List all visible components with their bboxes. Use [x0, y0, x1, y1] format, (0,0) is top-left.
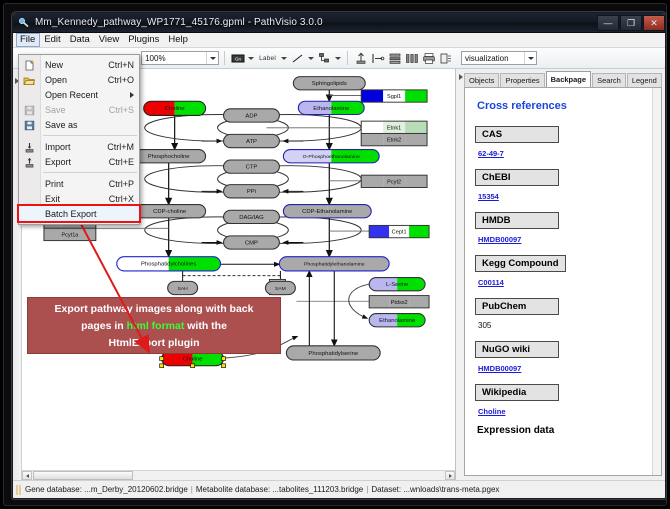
align-top-button[interactable] — [353, 51, 368, 66]
pathway-node-label: SAH — [178, 286, 189, 292]
file-menu-dropdown: New Ctrl+N Open Ctrl+O Open Recent — [18, 54, 140, 225]
title-bar: Mm_Kennedy_pathway_WP1771_45176.gpml - P… — [13, 13, 665, 33]
label-dropdown-icon[interactable] — [280, 51, 288, 65]
xref-hmdb: HMDB HMDB00097 — [475, 210, 661, 247]
annotation-callout: Export pathway images along with back pa… — [27, 297, 281, 354]
pathway-node-ppi[interactable]: PPi — [224, 185, 280, 198]
xref-pubchem: PubChem 305 — [475, 296, 661, 333]
menu-item-open-recent-label: Open Recent — [45, 90, 130, 100]
pathway-gene-box-label: Cept1 — [392, 230, 407, 236]
xref-head-wikipedia: Wikipedia — [475, 384, 559, 401]
menu-item-exit-label: Exit — [45, 194, 109, 204]
status-separator-1: | — [188, 485, 196, 494]
menu-item-new[interactable]: New Ctrl+N — [19, 57, 139, 72]
pathway-gene-box-sgpl1[interactable]: Sgpl1 — [361, 90, 427, 102]
xref-link-wikipedia[interactable]: Choline — [478, 407, 506, 416]
pathway-node-label: Ethanolamine — [313, 106, 349, 112]
interaction-tool-icon[interactable] — [317, 51, 332, 66]
maximize-button[interactable]: ❐ — [620, 15, 642, 31]
pathway-node-phosphocholine[interactable]: Phosphocholine — [132, 150, 206, 163]
interaction-dropdown-icon[interactable] — [334, 51, 342, 65]
menu-separator-1 — [43, 135, 137, 136]
pathway-node-label: DAG/IAG — [239, 215, 264, 221]
tab-legend[interactable]: Legend — [627, 73, 662, 87]
xref-head-pubchem: PubChem — [475, 298, 559, 315]
xref-nugo: NuGO wiki HMDB00097 — [475, 339, 661, 376]
pathway-node-label: Phosphatidylcholines — [141, 262, 196, 268]
menu-item-export-label: Export — [45, 157, 109, 167]
properties-button[interactable] — [438, 51, 453, 66]
menu-item-new-label: New — [45, 60, 108, 70]
menu-item-export[interactable]: Export Ctrl+E — [19, 154, 139, 169]
menu-item-save-accel: Ctrl+S — [109, 105, 139, 115]
expression-data-title: Expression data — [477, 425, 661, 436]
pathway-gene-box-etnk1[interactable]: Etnk1 — [361, 121, 427, 133]
pathway-node-label: ATP — [246, 139, 257, 145]
sidebar-tabs: Objects Properties Backpage Search Legen… — [458, 72, 662, 87]
menu-item-print-label: Print — [45, 179, 109, 189]
chevron-down-icon[interactable] — [206, 52, 218, 64]
tab-search[interactable]: Search — [592, 73, 626, 87]
pathway-node-label: CTP — [246, 165, 258, 171]
pathway-node-cdpcholine[interactable]: CDP-choline — [134, 205, 206, 218]
menu-item-import-label: Import — [45, 142, 107, 152]
pathway-node-ptdcholines[interactable]: Phosphatidylcholines — [117, 257, 221, 271]
menu-item-open-label: Open — [45, 75, 108, 85]
pathway-node-ophosphoetham[interactable]: O-Phosphoethanolamine — [283, 150, 379, 163]
menu-plugins[interactable]: Plugins — [124, 33, 164, 47]
sidebar-vertical-scrollbar[interactable] — [652, 88, 661, 475]
xref-wikipedia: Wikipedia Choline — [475, 382, 661, 419]
pathway-node-sam[interactable]: SAM — [265, 281, 295, 294]
pathway-gene-box-cept1[interactable]: Cept1 — [369, 225, 429, 237]
menu-item-save-label: Save — [45, 105, 109, 115]
pathway-node-label: Choline — [183, 357, 203, 363]
pathway-node-label: SAM — [275, 286, 286, 292]
status-gene-database: Gene database: ...m_Derby_20120602.bridg… — [25, 485, 188, 494]
line-tool-icon[interactable] — [290, 51, 305, 66]
menu-view[interactable]: View — [95, 33, 124, 47]
status-metabolite-database: Metabolite database: ...tabolites_111203… — [196, 485, 363, 494]
pathway-node-label: CMP — [245, 240, 258, 246]
tab-backpage[interactable]: Backpage — [546, 71, 591, 87]
menu-item-import-accel: Ctrl+M — [107, 142, 139, 152]
pathway-node-label: Phosphatidylserine — [308, 351, 358, 357]
cross-references-title: Cross references — [477, 100, 661, 112]
pathway-node-cdpethanolamine[interactable]: CDP-Ethanolamine — [283, 205, 371, 218]
pathway-gene-box-label: Pcyt1a — [61, 233, 79, 239]
xref-head-chebi: ChEBI — [475, 169, 559, 186]
toolbar-separator — [224, 51, 225, 65]
tab-objects[interactable]: Objects — [464, 73, 499, 87]
xref-link-cas[interactable]: 62-49-7 — [478, 149, 504, 158]
chevron-right-icon — [130, 92, 134, 98]
zoom-value: 100% — [145, 54, 206, 63]
save-as-icon — [23, 119, 35, 131]
zoom-combo[interactable]: 100% — [141, 51, 219, 65]
xref-head-kegg: Kegg Compound — [475, 255, 566, 272]
xref-value-pubchem: 305 — [478, 321, 491, 330]
screen-frame: Mm_Kennedy_pathway_WP1771_45176.gpml - P… — [3, 3, 667, 506]
line-dropdown-icon[interactable] — [307, 51, 315, 65]
pathway-node-cmp[interactable]: CMP — [224, 236, 280, 249]
new-document-icon — [23, 59, 35, 71]
menu-item-open-accel: Ctrl+O — [108, 75, 139, 85]
visualization-value: visualization — [465, 54, 524, 63]
pathway-node-adp[interactable]: ADP — [224, 109, 280, 122]
callout-highlight: html format — [127, 320, 185, 332]
window-title: Mm_Kennedy_pathway_WP1771_45176.gpml - P… — [35, 17, 323, 28]
menu-item-save-as-label: Save as — [45, 120, 139, 130]
pathway-node-label: ADP — [245, 113, 257, 119]
pathway-gene-box-label: Etnk2 — [387, 138, 401, 144]
pathway-gene-box-pcyt1a[interactable]: Pcyt1a — [44, 228, 96, 240]
pathway-node-ctp[interactable]: CTP — [224, 160, 280, 173]
status-grip-icon — [16, 485, 22, 495]
pathway-node-choline[interactable]: Choline — [144, 101, 206, 115]
right-sidebar: Objects Properties Backpage Search Legen… — [456, 69, 665, 480]
pathway-node-label: Ethanolamine — [379, 318, 415, 324]
save-disk-icon — [23, 104, 35, 116]
print-button[interactable] — [421, 51, 436, 66]
pathway-node-label: O-Phosphoethanolamine — [303, 154, 360, 160]
pathway-gene-box-label: Etnk1 — [387, 125, 401, 131]
pathway-node-sah[interactable]: SAH — [168, 281, 198, 294]
pathway-gene-box-pcyt2[interactable]: Pcyt2 — [361, 175, 427, 187]
window-controls: — ❐ ✕ — [596, 13, 665, 33]
menu-item-batch-export-label: Batch Export — [45, 209, 139, 219]
pathway-node-ethanolamine1[interactable]: Ethanolamine — [298, 101, 364, 114]
xref-chebi: ChEBI 15354 — [475, 167, 661, 204]
pathway-node-label: CDP-choline — [153, 209, 186, 215]
datanode-dropdown-icon[interactable] — [247, 51, 255, 65]
pathway-node-ethanolamine2[interactable]: Ethanolamine — [369, 314, 425, 327]
align-left-button[interactable] — [370, 51, 385, 66]
pathway-gene-box-label: Ptdss2 — [391, 300, 408, 306]
stack-vertical-button[interactable] — [387, 51, 402, 66]
scrollbar-thumb[interactable] — [33, 471, 133, 480]
menu-item-batch-export[interactable]: Batch Export — [19, 206, 139, 221]
open-folder-icon — [23, 74, 35, 86]
xref-head-cas: CAS — [475, 126, 559, 143]
xref-head-hmdb: HMDB — [475, 212, 559, 229]
toolbar-separator-2 — [347, 51, 348, 65]
pathway-node-label: Phosphatidylethanolamine — [304, 262, 365, 268]
menu-item-open-recent[interactable]: Open Recent — [19, 87, 139, 102]
close-button[interactable]: ✕ — [643, 15, 665, 31]
xref-kegg: Kegg Compound C00114 — [475, 253, 661, 290]
distribute-button[interactable] — [404, 51, 419, 66]
xref-link-chebi[interactable]: 15354 — [478, 192, 499, 201]
callout-line-2: pages in html format with the — [34, 318, 274, 335]
tab-properties[interactable]: Properties — [500, 73, 544, 87]
menu-item-save-as[interactable]: Save as — [19, 117, 139, 132]
xref-link-hmdb[interactable]: HMDB00097 — [478, 235, 521, 244]
status-bar: Gene database: ...m_Derby_20120602.bridg… — [13, 480, 665, 498]
menu-separator-2 — [43, 172, 137, 173]
xref-link-nugo[interactable]: HMDB00097 — [478, 364, 521, 373]
menu-item-export-accel: Ctrl+E — [109, 157, 139, 167]
xref-head-nugo: NuGO wiki — [475, 341, 559, 358]
pathway-node-label: CDP-Ethanolamine — [302, 209, 352, 215]
pathway-node-label: Choline — [165, 106, 185, 112]
svg-text:Gn: Gn — [235, 56, 241, 61]
visualization-combo[interactable]: visualization — [461, 51, 537, 65]
pathvisio-app-icon — [18, 17, 30, 29]
menu-data[interactable]: Data — [66, 33, 95, 47]
export-icon — [23, 156, 35, 168]
menu-item-print[interactable]: Print Ctrl+P — [19, 176, 139, 191]
pathway-node-atp[interactable]: ATP — [224, 134, 280, 147]
menu-edit[interactable]: Edit — [40, 33, 65, 47]
label-tool-label[interactable]: Label — [257, 55, 278, 62]
scroll-left-icon[interactable] — [22, 471, 32, 480]
desktop-background: Mm_Kennedy_pathway_WP1771_45176.gpml - P… — [0, 0, 670, 509]
pathway-node-label: Phosphocholine — [148, 154, 190, 160]
pathway-node-lserine[interactable]: L-Serine — [369, 278, 425, 291]
menu-bar: File Edit Data View Plugins Help — [13, 33, 665, 48]
status-dataset: Dataset: ...wnloads\trans-meta.pgex — [371, 485, 499, 494]
menu-item-exit-accel: Ctrl+X — [109, 194, 139, 204]
menu-file[interactable]: File — [16, 33, 40, 47]
pathvisio-application-window: Mm_Kennedy_pathway_WP1771_45176.gpml - P… — [12, 12, 666, 499]
pathway-gene-box-etnk2[interactable]: Etnk2 — [361, 133, 427, 145]
minimize-button[interactable]: — — [597, 15, 619, 31]
callout-line-1: Export pathway images along with back — [34, 301, 274, 318]
menu-item-print-accel: Ctrl+P — [109, 179, 139, 189]
pathway-node-label: L-Serine — [386, 282, 408, 288]
menu-item-exit[interactable]: Exit Ctrl+X — [19, 191, 139, 206]
backpage-panel: Cross references CAS 62-49-7 ChEBI 15354… — [464, 87, 662, 476]
pathway-node-ptdserine[interactable]: Phosphatidylserine — [286, 346, 380, 360]
pathway-node-ptdethanolamine[interactable]: Phosphatidylethanolamine — [279, 257, 389, 271]
callout-line-3: HtmlExport plugin — [34, 335, 274, 352]
menu-help[interactable]: Help — [164, 33, 193, 47]
menu-item-save: Save Ctrl+S — [19, 102, 139, 117]
pathway-node-dagiag[interactable]: DAG/IAG — [224, 210, 280, 223]
scroll-right-icon[interactable] — [445, 471, 455, 480]
canvas-horizontal-scrollbar[interactable] — [22, 470, 455, 480]
xref-link-kegg[interactable]: C00114 — [478, 278, 504, 287]
status-separator-2: | — [363, 485, 371, 494]
chevron-down-icon-2[interactable] — [524, 52, 536, 64]
menu-item-new-accel: Ctrl+N — [108, 60, 139, 70]
callout-line-2-a: pages in — [81, 320, 127, 332]
datanode-tool-icon[interactable]: Gn — [230, 51, 245, 66]
import-icon — [23, 141, 35, 153]
menu-item-open[interactable]: Open Ctrl+O — [19, 72, 139, 87]
pathway-node-sphingolipids[interactable]: Sphingolipids — [293, 77, 365, 90]
callout-line-2-b: with the — [184, 320, 227, 332]
xref-cas: CAS 62-49-7 — [475, 124, 661, 161]
pathway-node-label: Sphingolipids — [312, 81, 347, 87]
menu-item-import[interactable]: Import Ctrl+M — [19, 139, 139, 154]
pathway-gene-box-label: Pcyt2 — [387, 180, 401, 186]
pathway-node-label: PPi — [247, 189, 256, 195]
pathway-gene-box-ptdss2[interactable]: Ptdss2 — [369, 296, 429, 308]
pathway-gene-box-label: Sgpl1 — [387, 94, 401, 100]
